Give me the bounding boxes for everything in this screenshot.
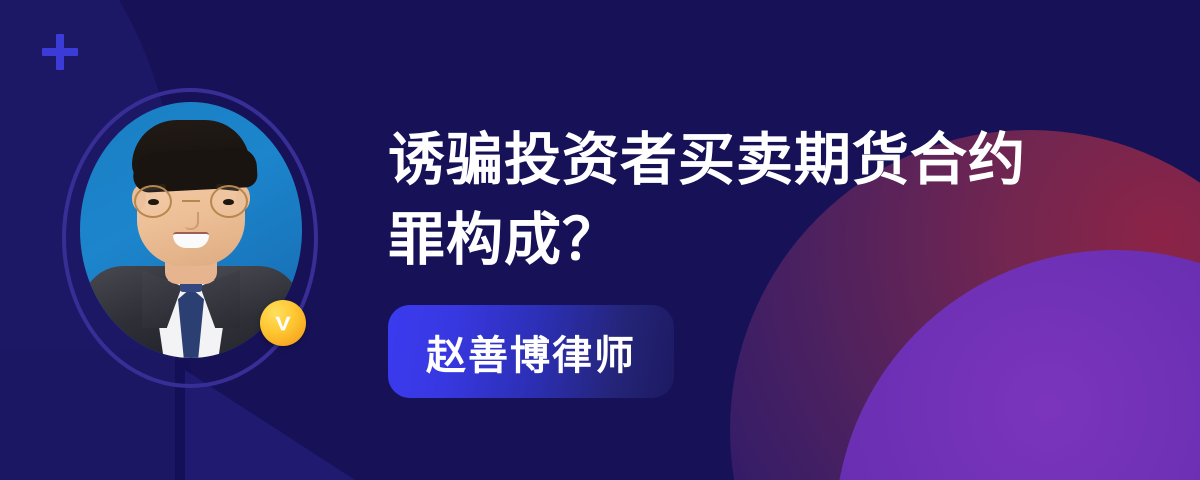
plus-icon xyxy=(40,32,80,72)
lawyer-qa-banner: 诱骗投资者买卖期货合约 罪构成？ 赵善博律师 xyxy=(0,0,1200,480)
page-title: 诱骗投资者买卖期货合约 罪构成？ xyxy=(388,120,1088,280)
avatar xyxy=(62,88,318,388)
lawyer-name-button[interactable]: 赵善博律师 xyxy=(388,305,674,398)
verified-badge-icon xyxy=(260,300,306,346)
content-block: 诱骗投资者买卖期货合约 罪构成？ 赵善博律师 xyxy=(388,120,1088,398)
